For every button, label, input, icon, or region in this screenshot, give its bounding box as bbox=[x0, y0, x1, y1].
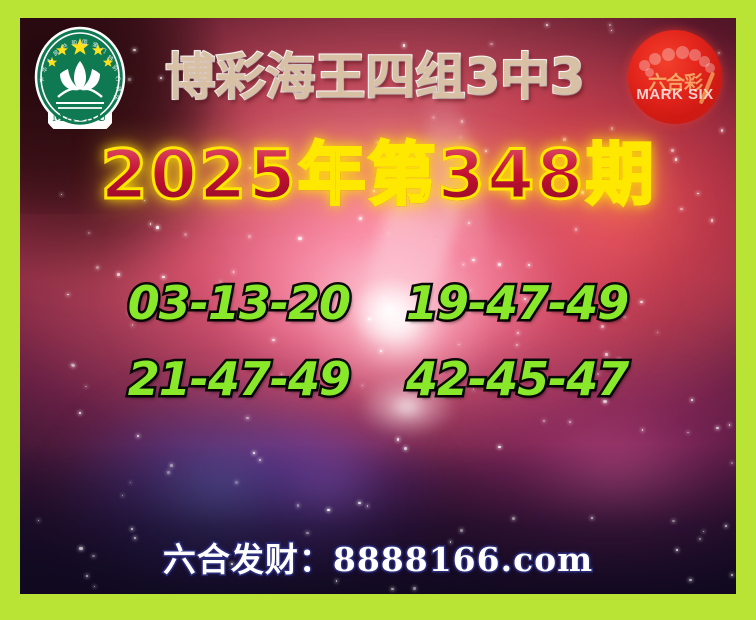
number-block: 03-13-20 19-47-49 21-47-49 42-45-47 bbox=[20, 280, 736, 432]
svg-text:国: 国 bbox=[82, 39, 88, 46]
nebula-background: MACAU 中 华 人 民 共 和 国 澳 门 特 别 行 bbox=[20, 18, 736, 594]
poster-footer: 六合发财：8888166.com bbox=[20, 543, 736, 576]
number-group-left: 21-47-49 bbox=[128, 356, 350, 402]
number-row: 03-13-20 19-47-49 bbox=[20, 280, 736, 326]
title-container: 博彩海王四组3中3 bbox=[122, 52, 628, 102]
number-group-right: 42-45-47 bbox=[406, 356, 628, 402]
lottery-poster: MACAU 中 华 人 民 共 和 国 澳 门 特 别 行 bbox=[0, 0, 756, 620]
page-title: 博彩海王四组3中3 bbox=[165, 52, 585, 102]
number-group-right: 19-47-49 bbox=[406, 280, 628, 326]
svg-text:MACAU: MACAU bbox=[52, 111, 108, 124]
mark-six-logo-icon: 六合彩 MARK SIX bbox=[628, 30, 722, 124]
issue-label: 2025年第348期 bbox=[100, 142, 655, 210]
number-group-left: 03-13-20 bbox=[128, 280, 350, 326]
footer-website-text: 六合发财：8888166.com bbox=[163, 543, 593, 576]
macau-emblem-icon: MACAU 中 华 人 民 共 和 国 澳 门 特 别 行 bbox=[32, 25, 128, 129]
poster-header: MACAU 中 华 人 民 共 和 国 澳 门 特 别 行 bbox=[20, 18, 736, 136]
issue-line: 2025年第348期 bbox=[20, 142, 736, 210]
number-row: 21-47-49 42-45-47 bbox=[20, 356, 736, 402]
